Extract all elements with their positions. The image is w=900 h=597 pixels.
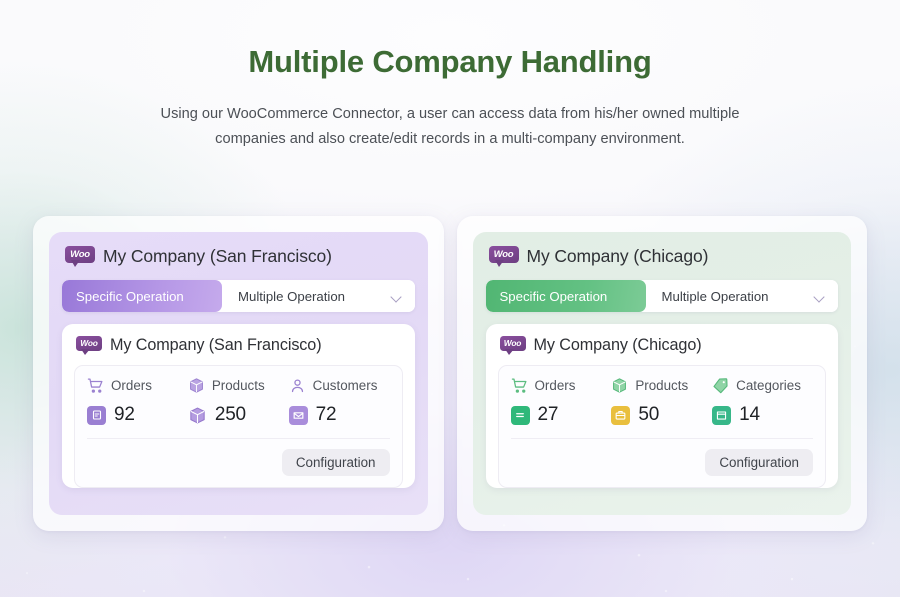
stat-label: Orders bbox=[111, 378, 152, 393]
company-title: My Company (San Francisco) bbox=[103, 246, 332, 267]
company-detail-card: Woo My Company (Chicago) bbox=[486, 324, 839, 488]
stat-header: Customers bbox=[289, 377, 390, 394]
company-detail-header: Woo My Company (Chicago) bbox=[498, 336, 827, 355]
company-detail-title: My Company (Chicago) bbox=[534, 336, 702, 355]
box-icon bbox=[188, 406, 207, 425]
woo-logo-icon: Woo bbox=[65, 246, 95, 267]
stat-header: Orders bbox=[511, 377, 612, 394]
stat-label: Products bbox=[212, 378, 265, 393]
company-title: My Company (Chicago) bbox=[527, 246, 709, 267]
stat-value-row: 14 bbox=[712, 404, 813, 426]
multiple-operation-label: Multiple Operation bbox=[662, 289, 769, 304]
stat-value: 250 bbox=[215, 404, 246, 426]
stat-orders[interactable]: Orders 92 bbox=[87, 377, 188, 426]
stat-products[interactable]: Products 250 bbox=[188, 377, 289, 426]
stat-value-row: 92 bbox=[87, 404, 188, 426]
woo-logo-label: Woo bbox=[76, 336, 102, 351]
stat-value-row: 250 bbox=[188, 404, 289, 426]
stat-label: Products bbox=[635, 378, 688, 393]
box-icon bbox=[188, 377, 205, 394]
stat-header: Orders bbox=[87, 377, 188, 394]
stats-grid: Orders 27 bbox=[511, 377, 814, 439]
stat-orders[interactable]: Orders 27 bbox=[511, 377, 612, 426]
list-icon bbox=[511, 406, 530, 425]
stat-label: Customers bbox=[313, 378, 378, 393]
stat-customers[interactable]: Customers 72 bbox=[289, 377, 390, 426]
stat-value: 14 bbox=[739, 404, 760, 426]
stat-header: Products bbox=[611, 377, 712, 394]
stat-value: 50 bbox=[638, 404, 659, 426]
company-header: Woo My Company (San Francisco) bbox=[62, 246, 415, 267]
shopping-cart-icon bbox=[511, 377, 528, 394]
stat-products[interactable]: Products 50 bbox=[611, 377, 712, 426]
box-icon bbox=[611, 377, 628, 394]
chevron-down-icon[interactable] bbox=[813, 290, 826, 303]
page-title: Multiple Company Handling bbox=[0, 44, 900, 80]
company-header: Woo My Company (Chicago) bbox=[486, 246, 839, 267]
stat-value-row: 27 bbox=[511, 404, 612, 426]
chevron-down-icon[interactable] bbox=[390, 290, 403, 303]
company-card-san-francisco: Woo My Company (San Francisco) Specific … bbox=[33, 216, 444, 531]
user-icon bbox=[289, 377, 306, 394]
specific-operation-button[interactable]: Specific Operation bbox=[62, 280, 222, 312]
company-detail-card: Woo My Company (San Francisco) bbox=[62, 324, 415, 488]
stat-categories[interactable]: Categories 14 bbox=[712, 377, 813, 426]
tag-icon bbox=[712, 377, 729, 394]
multiple-operation-select[interactable]: Multiple Operation bbox=[646, 280, 839, 312]
woo-logo-label: Woo bbox=[65, 246, 95, 263]
stat-label: Orders bbox=[535, 378, 576, 393]
stat-value-row: 50 bbox=[611, 404, 712, 426]
stat-value: 27 bbox=[538, 404, 559, 426]
stat-value-row: 72 bbox=[289, 404, 390, 426]
company-panel: Woo My Company (San Francisco) Specific … bbox=[49, 232, 428, 515]
company-detail-header: Woo My Company (San Francisco) bbox=[74, 336, 403, 355]
shopping-cart-icon bbox=[87, 377, 104, 394]
company-detail-title: My Company (San Francisco) bbox=[110, 336, 322, 355]
woo-logo-icon: Woo bbox=[489, 246, 519, 267]
stats-box: Orders 92 bbox=[74, 365, 403, 488]
stat-label: Categories bbox=[736, 378, 801, 393]
multiple-operation-label: Multiple Operation bbox=[238, 289, 345, 304]
envelope-icon bbox=[289, 406, 308, 425]
book-icon bbox=[712, 406, 731, 425]
woo-logo-label: Woo bbox=[500, 336, 526, 351]
specific-operation-button[interactable]: Specific Operation bbox=[486, 280, 646, 312]
company-panel: Woo My Company (Chicago) Specific Operat… bbox=[473, 232, 852, 515]
clipboard-icon bbox=[87, 406, 106, 425]
config-row: Configuration bbox=[87, 439, 390, 487]
config-row: Configuration bbox=[511, 439, 814, 487]
configuration-button[interactable]: Configuration bbox=[705, 449, 813, 476]
stat-value: 92 bbox=[114, 404, 135, 426]
stats-box: Orders 27 bbox=[498, 365, 827, 488]
stat-value: 72 bbox=[316, 404, 337, 426]
briefcase-icon bbox=[611, 406, 630, 425]
woo-logo-icon: Woo bbox=[500, 336, 526, 355]
woo-logo-label: Woo bbox=[489, 246, 519, 263]
stats-grid: Orders 92 bbox=[87, 377, 390, 439]
company-card-chicago: Woo My Company (Chicago) Specific Operat… bbox=[457, 216, 868, 531]
multiple-operation-select[interactable]: Multiple Operation bbox=[222, 280, 415, 312]
page-root: Multiple Company Handling Using our WooC… bbox=[0, 0, 900, 597]
configuration-button[interactable]: Configuration bbox=[282, 449, 390, 476]
page-subtitle: Using our WooCommerce Connector, a user … bbox=[132, 102, 768, 152]
stat-header: Products bbox=[188, 377, 289, 394]
company-cards-row: Woo My Company (San Francisco) Specific … bbox=[33, 216, 867, 531]
stat-header: Categories bbox=[712, 377, 813, 394]
operation-toggle: Specific Operation Multiple Operation bbox=[486, 280, 839, 312]
page-header: Multiple Company Handling Using our WooC… bbox=[0, 0, 900, 152]
woo-logo-icon: Woo bbox=[76, 336, 102, 355]
operation-toggle: Specific Operation Multiple Operation bbox=[62, 280, 415, 312]
